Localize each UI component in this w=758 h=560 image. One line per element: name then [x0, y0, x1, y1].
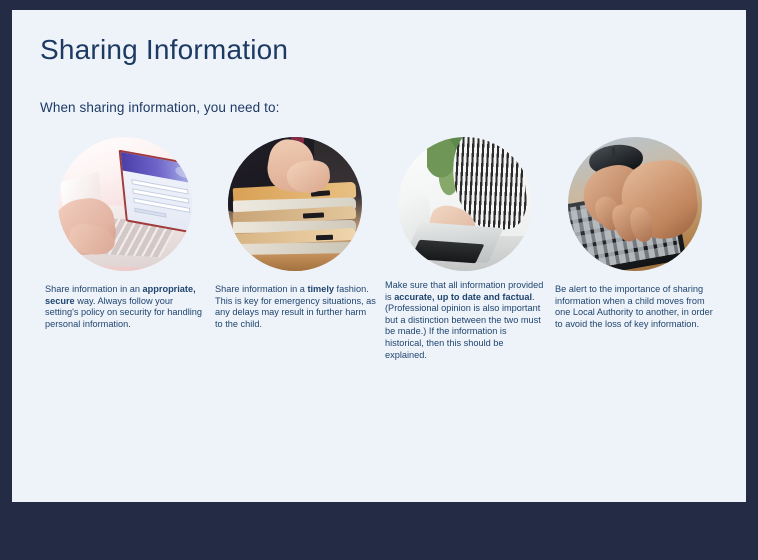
person-using-laptop-photo [398, 137, 532, 271]
content-column-1: Share information in an appropriate, sec… [40, 137, 210, 361]
photo-illustration-1 [58, 137, 192, 271]
slide-subtitle: When sharing information, you need to: [40, 100, 279, 115]
column-1-text: Share information in an appropriate, sec… [44, 284, 206, 330]
column-4-text: Be alert to the importance of sharing in… [554, 284, 716, 330]
photo-illustration-3 [398, 137, 532, 271]
page-title: Sharing Information [40, 34, 288, 66]
course-player-window: Sharing Information When sharing informa… [0, 0, 758, 560]
slide-content-panel: Sharing Information When sharing informa… [12, 10, 746, 502]
content-column-4: Be alert to the importance of sharing in… [550, 137, 720, 361]
content-column-2: Share information in a timely fashion. T… [210, 137, 380, 361]
column-3-text: Make sure that all information provided … [384, 280, 546, 361]
photo-illustration-4 [568, 137, 702, 271]
photo-illustration-2 [228, 137, 362, 271]
hands-typing-laptop-form-photo [58, 137, 192, 271]
player-footer-bar: Page 12 of 24 | 50% Completed ❮ Prev Nex… [0, 502, 758, 560]
content-column-3: Make sure that all information provided … [380, 137, 550, 361]
hands-typing-keyboard-photo [568, 137, 702, 271]
column-2-text: Share information in a timely fashion. T… [214, 284, 376, 330]
content-columns: Share information in an appropriate, sec… [40, 137, 720, 361]
hand-on-stack-of-files-photo [228, 137, 362, 271]
